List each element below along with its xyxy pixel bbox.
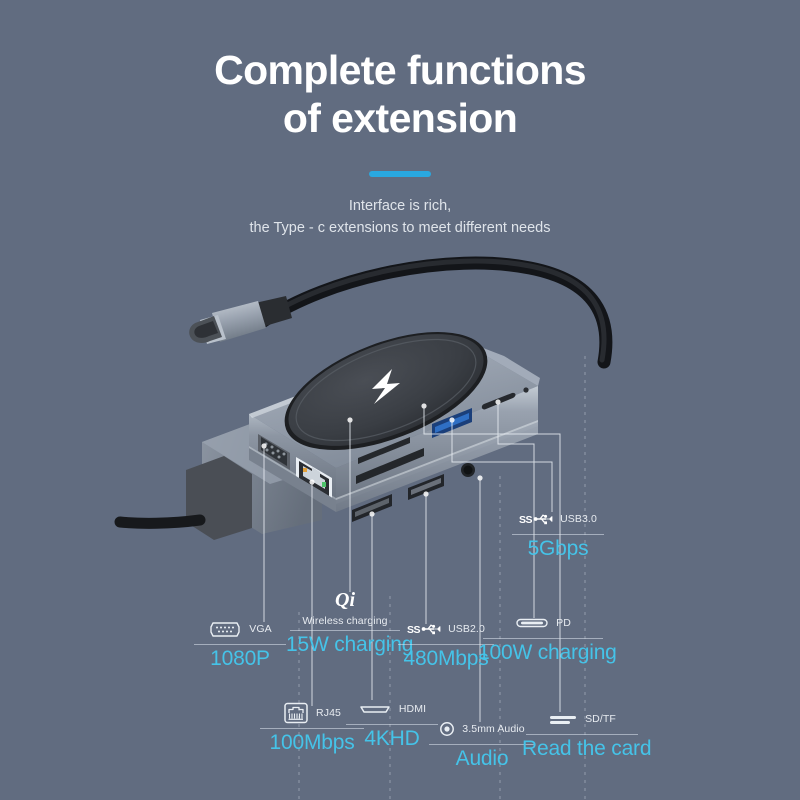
callout-hdmi-port-label: HDMI	[399, 703, 426, 715]
callout-pd-port-label: PD	[556, 617, 571, 629]
callout-rj45-port-label: RJ45	[316, 707, 341, 719]
svg-text:Qi: Qi	[335, 589, 355, 611]
callout-audio-rule	[429, 744, 535, 745]
port-vga	[258, 434, 290, 470]
svg-text:SS: SS	[407, 624, 421, 636]
subtitle-line-2: the Type - c extensions to meet differen…	[250, 220, 551, 236]
callout-wireless-charging-port-label: Wireless charging	[302, 615, 387, 627]
port-rj45	[296, 457, 332, 500]
callout-usb3-value: 5Gbps	[506, 536, 610, 562]
callout-usb3-rule	[512, 534, 604, 535]
port-usb3	[432, 408, 472, 438]
rj45-icon	[283, 701, 309, 725]
callout-sdtf-port-label: SD/TF	[585, 713, 616, 725]
hub-rear-slab	[186, 424, 322, 540]
qi-icon: Qi	[331, 588, 359, 612]
superspeed-usb-icon: SS	[407, 622, 441, 636]
title-line-2: of extension	[0, 94, 800, 142]
title-line-1: Complete functions	[214, 47, 586, 93]
port-sd-slot	[356, 437, 424, 484]
wireless-charging-pad	[269, 308, 503, 474]
callout-sdtf-rule	[526, 734, 638, 735]
callout-sdtf-value: Read the card	[522, 736, 642, 762]
vga-icon	[208, 620, 242, 639]
usb-c-cable	[262, 261, 606, 362]
port-usb-c-pd	[482, 393, 516, 410]
callout-usb3-port-label: USB3.0	[560, 513, 597, 525]
hub-body	[249, 336, 540, 504]
audio-jack-icon	[439, 721, 455, 737]
port-hdmi	[352, 494, 392, 522]
callout-pd-rule	[483, 638, 603, 639]
indicator-led	[523, 387, 528, 392]
product-marketing-image: Complete functions of extension Interfac…	[0, 0, 800, 800]
hub-lower-tier	[249, 422, 538, 512]
callout-usb3: SS USB3.0 5Gbps	[506, 508, 610, 562]
port-audio-jack	[461, 463, 475, 477]
sd-card-icon	[548, 712, 578, 726]
callout-vga-value: 1080P	[186, 646, 294, 672]
callout-vga: VGA 1080P	[186, 618, 294, 672]
svg-text:SS: SS	[519, 514, 533, 526]
callout-vga-port-label: VGA	[249, 623, 271, 635]
subtitle-line-1: Interface is rich,	[349, 198, 451, 214]
usb-c-plug	[189, 296, 292, 344]
usb-c-icon	[515, 616, 549, 630]
port-usb2	[408, 474, 444, 500]
header-block: Complete functions of extension Interfac…	[0, 0, 800, 240]
callout-sdtf: SD/TF Read the card	[522, 708, 642, 762]
callout-wireless-charging-rule	[290, 630, 400, 631]
callout-audio-port-label: 3.5mm Audio	[462, 723, 524, 735]
superspeed-usb-icon: SS	[519, 512, 553, 526]
subtitle: Interface is rich, the Type - c extensio…	[0, 177, 800, 240]
page-title: Complete functions of extension	[0, 0, 800, 143]
callout-pd: PD 100W charging	[478, 612, 608, 666]
hdmi-icon	[358, 702, 392, 716]
callout-wireless-charging: Qi Wireless charging 15W charging	[286, 588, 404, 658]
callout-vga-rule	[194, 644, 286, 645]
callout-wireless-charging-value: 15W charging	[286, 632, 404, 658]
callout-pd-value: 100W charging	[478, 640, 608, 666]
